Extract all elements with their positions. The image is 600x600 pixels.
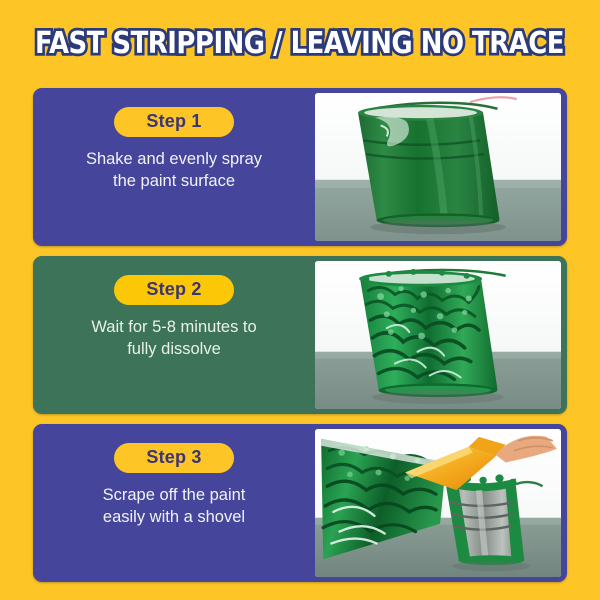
step-1-text-column: Step 1 Shake and evenly spray the paint … [33, 88, 315, 246]
step-2-badge: Step 2 [114, 275, 233, 305]
header-banner: FAST STRIPPING / LEAVING NO TRACE [0, 0, 600, 86]
step-1-badge: Step 1 [114, 107, 233, 137]
step-2-text-column: Step 2 Wait for 5-8 minutes to fully dis… [33, 256, 315, 414]
step-2-photo [315, 261, 561, 409]
step-3-description: Scrape off the paint easily with a shove… [103, 485, 246, 529]
step-3-photo [315, 429, 561, 577]
scraper-peeling-paint-illustration [315, 429, 561, 577]
page-title: FAST STRIPPING / LEAVING NO TRACE [35, 26, 564, 61]
step-card-3: Step 3 Scrape off the paint easily with … [33, 424, 567, 582]
step-card-2: Step 2 Wait for 5-8 minutes to fully dis… [33, 256, 567, 414]
steps-list: Step 1 Shake and evenly spray the paint … [33, 88, 567, 582]
step-1-description: Shake and evenly spray the paint surface [86, 149, 262, 193]
green-bucket-sprayed-illustration [315, 93, 561, 241]
step-2-description: Wait for 5-8 minutes to fully dissolve [91, 317, 256, 361]
step-3-text-column: Step 3 Scrape off the paint easily with … [33, 424, 315, 582]
step-card-1: Step 1 Shake and evenly spray the paint … [33, 88, 567, 246]
infographic-root: FAST STRIPPING / LEAVING NO TRACE Step 1… [0, 0, 600, 600]
step-1-photo [315, 93, 561, 241]
step-3-badge: Step 3 [114, 443, 233, 473]
bubbled-paint-bucket-illustration [315, 261, 561, 409]
